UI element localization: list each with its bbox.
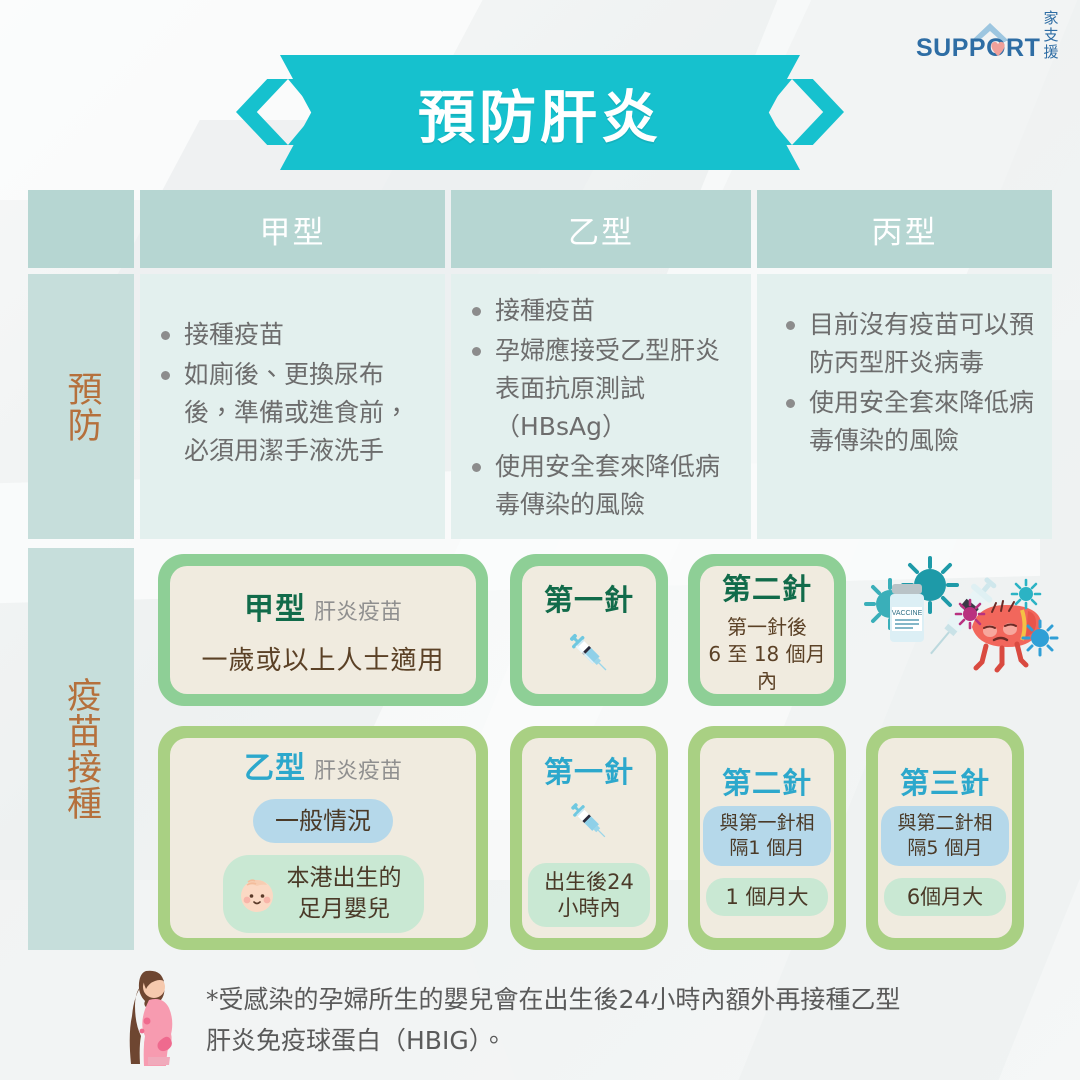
dose-title-a2: 第二針 bbox=[722, 566, 812, 608]
dose-title-a1: 第一針 bbox=[544, 577, 634, 619]
logo-cn-mid: 支 bbox=[1038, 27, 1064, 44]
prevention-cell-type-c: 目前沒有疫苗可以預防丙型肝炎病毒 使用安全套來降低病毒傳染的風險 bbox=[757, 274, 1052, 539]
tag-local-full-term-infant: 本港出生的 足月嬰兒 bbox=[223, 855, 424, 933]
dose-interval-b3: 與第二針相 隔5 個月 bbox=[881, 806, 1009, 866]
table-header-corner bbox=[28, 190, 134, 268]
table-header-type-a: 甲型 bbox=[140, 190, 445, 268]
hepatitis-comparison-table: 甲型 乙型 丙型 預防 接種疫苗 如廁後、更換尿布後，準備或進食前，必須用潔手液… bbox=[28, 190, 1052, 539]
prevention-cell-type-b: 接種疫苗 孕婦應接受乙型肝炎表面抗原測試（HBsAg） 使用安全套來降低病毒傳染… bbox=[451, 274, 751, 539]
table-row-prevention: 預防 接種疫苗 如廁後、更換尿布後，準備或進食前，必須用潔手液洗手 接種疫苗 孕… bbox=[28, 274, 1052, 539]
row-label-vaccination-text: 疫苗接種 bbox=[57, 677, 105, 821]
dose-card-b2-inner: 第二針 與第一針相 隔1 個月 1 個月大 bbox=[700, 738, 834, 938]
row-label-prevention-text: 預防 bbox=[60, 371, 103, 443]
dose-card-b1-inner: 第一針 bbox=[522, 738, 656, 938]
vaccine-card-type-a-inner: 甲型肝炎疫苗 一歲或以上人士適用 bbox=[170, 566, 476, 694]
dose-card-b1: 第一針 bbox=[510, 726, 668, 950]
pregnant-woman-icon bbox=[116, 967, 192, 1067]
schedule-row-type-b: 乙型肝炎疫苗 一般情況 bbox=[158, 726, 1052, 950]
dose-interval-b2-line1: 與第一針相 bbox=[713, 811, 821, 836]
dose-age-b1-line1: 出生後24 bbox=[538, 869, 640, 895]
dose-age-b1: 出生後24 小時內 bbox=[528, 863, 650, 927]
list-item: 接種疫苗 bbox=[184, 316, 431, 354]
list-item: 如廁後、更換尿布後，準備或進食前，必須用潔手液洗手 bbox=[184, 356, 431, 470]
dose-note-a2-line1: 第一針後 bbox=[700, 614, 834, 641]
dose-interval-b2-line2: 隔1 個月 bbox=[713, 836, 821, 861]
dose-card-a2: 第二針 第一針後 6 至 18 個月內 bbox=[688, 554, 846, 706]
list-item: 接種疫苗 bbox=[495, 292, 737, 330]
vaccine-card-type-b-inner: 乙型肝炎疫苗 一般情況 bbox=[170, 738, 476, 938]
footnote: *受感染的孕婦所生的嬰兒會在出生後24小時內額外再接種乙型 肝炎免疫球蛋白（HB… bbox=[180, 975, 1060, 1065]
dose-interval-b3-line1: 與第二針相 bbox=[891, 811, 999, 836]
sad-liver-icon bbox=[972, 601, 1041, 670]
tag-infant-text: 本港出生的 足月嬰兒 bbox=[287, 863, 402, 925]
vaccine-type-b-label: 乙型 bbox=[244, 751, 306, 786]
table-header-type-c: 丙型 bbox=[757, 190, 1052, 268]
footnote-line-2: 肝炎免疫球蛋白（HBIG）。 bbox=[206, 1020, 900, 1061]
dose-age-b3: 6個月大 bbox=[884, 878, 1006, 916]
dose-card-a1: 第一針 bbox=[510, 554, 668, 706]
dose-title-b3: 第三針 bbox=[900, 760, 990, 802]
tag-infant-line2: 足月嬰兒 bbox=[287, 894, 402, 925]
dose-note-a2: 第一針後 6 至 18 個月內 bbox=[700, 614, 834, 695]
list-item: 使用安全套來降低病毒傳染的風險 bbox=[495, 448, 737, 524]
dose-interval-b2: 與第一針相 隔1 個月 bbox=[703, 806, 831, 866]
tag-general-condition: 一般情況 bbox=[253, 799, 393, 843]
vaccine-card-type-a: 甲型肝炎疫苗 一歲或以上人士適用 bbox=[158, 554, 488, 706]
vaccine-vial-icon: VACCINE bbox=[890, 584, 924, 642]
list-item: 孕婦應接受乙型肝炎表面抗原測試（HBsAg） bbox=[495, 332, 737, 446]
prevention-list-c: 目前沒有疫苗可以預防丙型肝炎病毒 使用安全套來降低病毒傳染的風險 bbox=[779, 306, 1038, 460]
page-title: 預防肝炎 bbox=[280, 55, 800, 170]
table-header-row: 甲型 乙型 丙型 bbox=[28, 190, 1052, 268]
vaccine-title-b: 乙型肝炎疫苗 bbox=[244, 743, 402, 787]
dose-age-b1-line2: 小時內 bbox=[538, 895, 640, 921]
tag-infant-line1: 本港出生的 bbox=[287, 863, 402, 894]
title-banner: 預防肝炎 bbox=[0, 55, 1080, 170]
syringe-icon bbox=[559, 623, 619, 683]
vaccine-type-a-label: 甲型 bbox=[244, 592, 306, 627]
vaccine-liver-illustration: VACCINE bbox=[862, 552, 1074, 712]
row-label-prevention: 預防 bbox=[28, 274, 134, 539]
vaccine-type-b-suffix: 肝炎疫苗 bbox=[314, 759, 402, 784]
list-item: 目前沒有疫苗可以預防丙型肝炎病毒 bbox=[809, 306, 1038, 382]
dose-card-b2: 第二針 與第一針相 隔1 個月 1 個月大 bbox=[688, 726, 846, 950]
prevention-cell-type-a: 接種疫苗 如廁後、更換尿布後，準備或進食前，必須用潔手液洗手 bbox=[140, 274, 445, 539]
dose-title-b1: 第一針 bbox=[544, 749, 634, 791]
dose-note-a2-line2: 6 至 18 個月內 bbox=[700, 641, 834, 695]
dose-title-b2: 第二針 bbox=[722, 760, 812, 802]
dose-card-a2-inner: 第二針 第一針後 6 至 18 個月內 bbox=[700, 566, 834, 694]
infographic-page: SUPPORT 家 支 援 預防肝炎 甲型 乙型 丙型 預防 bbox=[0, 0, 1080, 1080]
dose-card-a1-inner: 第一針 bbox=[522, 566, 656, 694]
vaccine-eligibility-a: 一歲或以上人士適用 bbox=[201, 640, 444, 677]
prevention-list-a: 接種疫苗 如廁後、更換尿布後，準備或進食前，必須用潔手液洗手 bbox=[154, 316, 431, 470]
dose-age-b2: 1 個月大 bbox=[706, 878, 828, 916]
list-item: 使用安全套來降低病毒傳染的風險 bbox=[809, 384, 1038, 460]
vaccine-vial-label: VACCINE bbox=[892, 610, 923, 617]
logo-chinese-text: 家 支 援 bbox=[1038, 10, 1064, 61]
footnote-line-1: *受感染的孕婦所生的嬰兒會在出生後24小時內額外再接種乙型 bbox=[206, 979, 900, 1020]
row-label-vaccination: 疫苗接種 bbox=[28, 548, 134, 950]
syringe-icon bbox=[561, 793, 617, 849]
table-header-type-b: 乙型 bbox=[451, 190, 751, 268]
baby-icon bbox=[235, 872, 279, 916]
prevention-list-b: 接種疫苗 孕婦應接受乙型肝炎表面抗原測試（HBsAg） 使用安全套來降低病毒傳染… bbox=[465, 292, 737, 524]
vaccine-type-a-suffix: 肝炎疫苗 bbox=[314, 600, 402, 625]
vaccine-title-a: 甲型肝炎疫苗 bbox=[244, 584, 402, 628]
footnote-text: *受感染的孕婦所生的嬰兒會在出生後24小時內額外再接種乙型 肝炎免疫球蛋白（HB… bbox=[206, 975, 900, 1061]
dose-card-b3-inner: 第三針 與第二針相 隔5 個月 6個月大 bbox=[878, 738, 1012, 938]
logo-cn-top: 家 bbox=[1038, 10, 1064, 27]
dose-interval-b3-line2: 隔5 個月 bbox=[891, 836, 999, 861]
vaccine-card-type-b: 乙型肝炎疫苗 一般情況 bbox=[158, 726, 488, 950]
dose-card-b3: 第三針 與第二針相 隔5 個月 6個月大 bbox=[866, 726, 1024, 950]
